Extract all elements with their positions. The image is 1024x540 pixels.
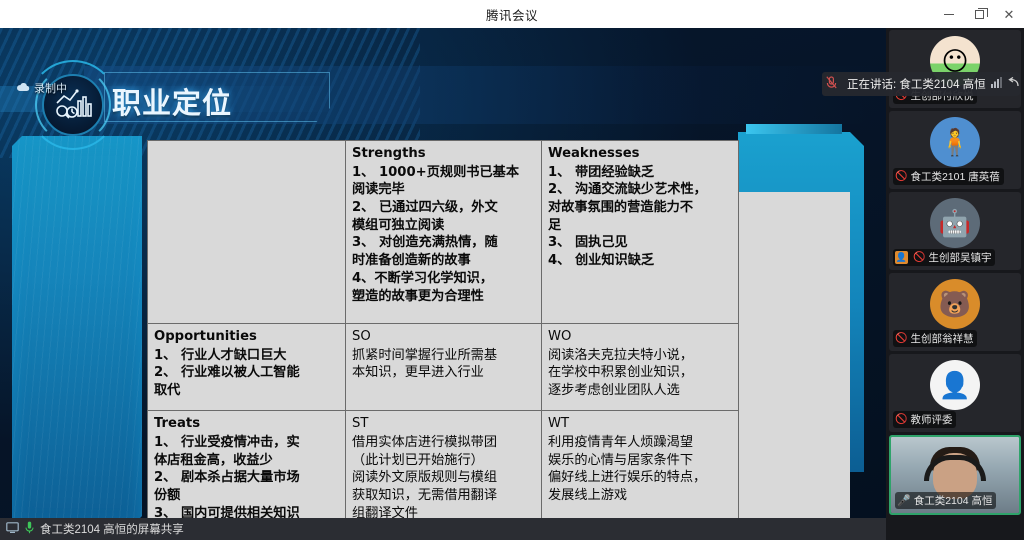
participant-name-chip: 👤🚫生创部吴镇宇 (893, 249, 995, 266)
cell-strengths-line: 塑造的故事更为合理性 (352, 288, 536, 306)
cell-weaknesses-line: 足 (548, 217, 733, 235)
cell-strengths-line: 模组可独立阅读 (352, 217, 536, 235)
cell-wt-label: WT (548, 415, 733, 433)
cell-so-line: 抓紧时间掌握行业所需基 (352, 347, 536, 365)
cell-wt-line: 偏好线上进行娱乐的特点， (548, 469, 733, 487)
cell-strengths-label: Strengths (352, 145, 536, 163)
swot-table: Strengths1、 1000+页规则书已基本阅读完毕2、 已通过四六级，外文… (147, 140, 739, 540)
cell-opportunities-label: Opportunities (154, 328, 340, 346)
participant-name: 教师评委 (910, 412, 952, 427)
cell-threats-line: 份额 (154, 487, 340, 505)
screen-share-status-bar: 食工类2104 高恒的屏幕共享 (0, 518, 886, 540)
cell-strengths: Strengths1、 1000+页规则书已基本阅读完毕2、 已通过四六级，外文… (346, 141, 542, 324)
cell-strengths-line: 时准备创造新的故事 (352, 252, 536, 270)
cell-wt-line: 利用疫情青年人烦躁渴望 (548, 434, 733, 452)
participant-name-chip: 🎤食工类2104 高恒 (895, 492, 996, 509)
cell-weaknesses-line: 1、 带团经验缺乏 (548, 164, 733, 182)
participant-tile[interactable]: 🧍🚫食工类2101 唐英蓓 (889, 111, 1021, 189)
monitor-icon (6, 522, 19, 536)
mecha-avatar: 🤖 (930, 198, 980, 248)
slide-title-cn: 职业定位 (112, 86, 232, 120)
cloud-icon (16, 82, 30, 95)
cell-st-label: ST (352, 415, 536, 433)
mic-muted-icon: 🚫 (895, 414, 907, 425)
signal-bars-icon (991, 77, 1002, 91)
participant-name-chip: 🚫食工类2101 唐英蓓 (893, 168, 1004, 185)
slide-left-panel (12, 136, 142, 528)
cell-weaknesses-line: 3、 固执己见 (548, 234, 733, 252)
participant-tile[interactable]: 👤🚫教师评委 (889, 354, 1021, 432)
cell-threats-line: 2、 剧本杀占据大量市场 (154, 469, 340, 487)
participant-tile[interactable]: 🎤食工类2104 高恒 (889, 435, 1021, 515)
cell-wo: WO阅读洛夫克拉夫特小说，在学校中积累创业知识，逐步考虑创业团队人选 (542, 323, 739, 410)
speaking-banner-text: 正在讲话: 食工类2104 高恒 (847, 76, 986, 92)
cell-wo-line: 阅读洛夫克拉夫特小说， (548, 347, 733, 365)
cell-opportunities-line: 取代 (154, 382, 340, 400)
anime-avatar: 🧍 (930, 117, 980, 167)
cell-blank (148, 141, 346, 324)
bear-avatar: 🐻 (930, 279, 980, 329)
cell-opportunities-line: 2、 行业难以被人工智能 (154, 364, 340, 382)
recording-label: 录制中 (34, 80, 67, 96)
mic-muted-icon: 🚫 (895, 171, 907, 182)
mic-muted-icon (826, 76, 837, 92)
cell-threats-line: 1、 行业受疫情冲击，实 (154, 434, 340, 452)
cell-threats-line: 体店租金高，收益少 (154, 452, 340, 470)
recording-indicator: 录制中 (16, 80, 67, 96)
page-title: 职业定位SWOT (112, 80, 232, 122)
cell-so-label: SO (352, 328, 536, 346)
cell-strengths-line: 3、 对创造充满热情，随 (352, 234, 536, 252)
participant-name-chip: 🚫教师评委 (893, 411, 956, 428)
cell-threats-label: Treats (154, 415, 340, 433)
cell-wt-line: 娱乐的心情与居家条件下 (548, 452, 733, 470)
speaking-banner[interactable]: 正在讲话: 食工类2104 高恒 (822, 72, 1020, 96)
mic-muted-icon: 🚫 (913, 252, 925, 263)
mic-muted-icon: 🚫 (895, 333, 907, 344)
cell-opportunities: Opportunities1、 行业人才缺口巨大2、 行业难以被人工智能取代 (148, 323, 346, 410)
participant-tile[interactable]: 🤖👤🚫生创部吴镇宇 (889, 192, 1021, 270)
cell-weaknesses-label: Weaknesses (548, 145, 733, 163)
participant-name: 食工类2104 高恒 (914, 493, 993, 508)
shared-slide: 录制中 职业定位SWOT Strengths1、 1000+页规则书已基本阅读完… (0, 28, 886, 540)
participant-name: 食工类2101 唐英蓓 (910, 169, 999, 184)
restore-button[interactable] (964, 0, 994, 28)
participant-tile[interactable]: 😶🚫生创部付欣悦 (889, 30, 1021, 108)
swot-table-body: Strengths1、 1000+页规则书已基本阅读完毕2、 已通过四六级，外文… (148, 141, 739, 540)
cell-strengths-line: 4、不断学习化学知识， (352, 270, 536, 288)
cell-weaknesses-line: 对故事氛围的营造能力不 (548, 199, 733, 217)
participant-rail[interactable]: 😶🚫生创部付欣悦🧍🚫食工类2101 唐英蓓🤖👤🚫生创部吴镇宇🐻🚫生创部翁祥慧👤🚫… (886, 28, 1024, 540)
window-controls: ✕ (934, 0, 1024, 28)
cell-strengths-line: 2、 已通过四六级，外文 (352, 199, 536, 217)
cell-st-line: 阅读外文原版规则与模组 (352, 469, 536, 487)
restore-icon (975, 10, 984, 19)
slide-tab-decoration (746, 124, 842, 134)
cell-strengths-line: 阅读完毕 (352, 181, 536, 199)
swot-row: Opportunities1、 行业人才缺口巨大2、 行业难以被人工智能取代SO… (148, 323, 739, 410)
cell-st-line: 获取知识，无需借用翻译 (352, 487, 536, 505)
cell-wo-label: WO (548, 328, 733, 346)
mic-on-icon: 🎤 (897, 494, 911, 507)
share-status-text: 食工类2104 高恒的屏幕共享 (40, 521, 184, 537)
participant-name: 生创部翁祥慧 (910, 331, 973, 346)
window-title: 腾讯会议 (486, 5, 538, 24)
minimize-button[interactable] (934, 0, 964, 28)
cell-so: SO抓紧时间掌握行业所需基本知识，更早进入行业 (346, 323, 542, 410)
cell-so-line: 本知识，更早进入行业 (352, 364, 536, 382)
cell-wo-line: 逐步考虑创业团队人选 (548, 382, 733, 400)
mic-on-icon (25, 521, 34, 537)
meeting-stage: 录制中 职业定位SWOT Strengths1、 1000+页规则书已基本阅读完… (0, 28, 1024, 540)
close-icon: ✕ (1004, 8, 1015, 21)
window-titlebar: 腾讯会议 ✕ (0, 0, 1024, 28)
participant-tile[interactable]: 🐻🚫生创部翁祥慧 (889, 273, 1021, 351)
swot-row: Strengths1、 1000+页规则书已基本阅读完毕2、 已通过四六级，外文… (148, 141, 739, 324)
cell-wt-line: 发展线上游戏 (548, 487, 733, 505)
arrow-collapse-icon[interactable] (1007, 77, 1019, 91)
participant-name-chip: 🚫生创部翁祥慧 (893, 330, 977, 347)
cell-weaknesses-line: 2、 沟通交流缺少艺术性， (548, 181, 733, 199)
participant-name: 生创部吴镇宇 (928, 250, 991, 265)
default-avatar: 👤 (930, 360, 980, 410)
cell-weaknesses: Weaknesses1、 带团经验缺乏2、 沟通交流缺少艺术性，对故事氛围的营造… (542, 141, 739, 324)
cell-st-line: 借用实体店进行模拟带团 (352, 434, 536, 452)
cell-st-line: （此计划已开始施行） (352, 452, 536, 470)
host-badge-icon: 👤 (895, 251, 908, 264)
cell-strengths-line: 1、 1000+页规则书已基本 (352, 164, 536, 182)
cell-weaknesses-line: 4、 创业知识缺乏 (548, 252, 733, 270)
cell-wo-line: 在学校中积累创业知识， (548, 364, 733, 382)
close-button[interactable]: ✕ (994, 0, 1024, 28)
minimize-icon (944, 14, 954, 15)
cell-opportunities-line: 1、 行业人才缺口巨大 (154, 347, 340, 365)
